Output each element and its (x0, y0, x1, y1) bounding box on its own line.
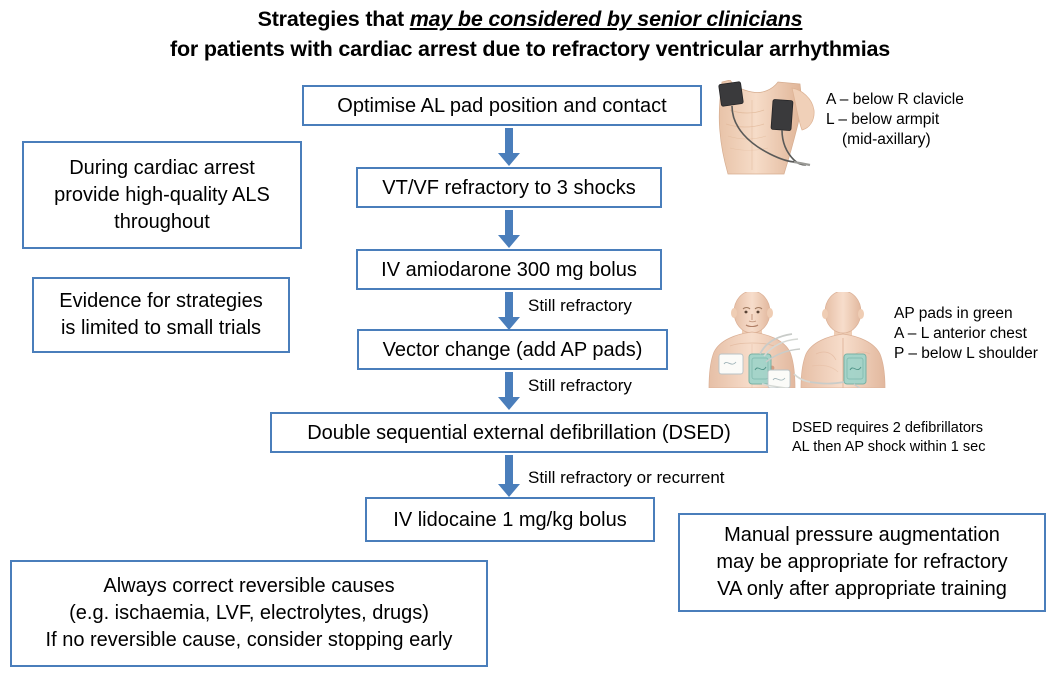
al-pad-torso-svg (706, 80, 816, 175)
note-line: If no reversible cause, consider stoppin… (46, 627, 453, 654)
note-box-reversible-causes: Always correct reversible causes (e.g. i… (10, 560, 488, 667)
flow-step-label: Double sequential external defibrillatio… (307, 420, 731, 446)
note-line: (e.g. ischaemia, LVF, electrolytes, drug… (69, 600, 429, 627)
side-note-line: AL then AP shock within 1 sec (792, 438, 985, 457)
flow-step-label: Optimise AL pad position and contact (337, 93, 666, 119)
side-note-line: (mid-axillary) (826, 130, 964, 150)
ap-back-figure (794, 292, 885, 388)
flow-step-vector-change[interactable]: Vector change (add AP pads) (357, 329, 668, 370)
side-note-line: L – below armpit (826, 110, 964, 130)
note-box-evidence-limited: Evidence for strategies is limited to sm… (32, 277, 290, 353)
illustration-al-pad-torso (706, 80, 816, 175)
side-note-ap-pad-placement: AP pads in green A – L anterior chest P … (894, 304, 1038, 364)
flowchart-canvas: Strategies that may be considered by sen… (0, 0, 1060, 683)
flow-step-label: Vector change (add AP pads) (383, 337, 643, 363)
note-line: Always correct reversible causes (103, 573, 394, 600)
ap-front-figure (709, 292, 800, 388)
arrow-label-still-refractory-2: Still refractory (528, 376, 632, 396)
flow-step-label: VT/VF refractory to 3 shocks (382, 175, 635, 201)
side-note-line: A – below R clavicle (826, 90, 964, 110)
side-note-line: P – below L shoulder (894, 344, 1038, 364)
page-title-line-1-prefix: Strategies that (258, 7, 410, 31)
page-title: Strategies that may be considered by sen… (0, 4, 1060, 64)
illustration-ap-pad-figures (700, 292, 890, 388)
flow-arrow-3 (498, 292, 520, 330)
flow-step-label: IV lidocaine 1 mg/kg bolus (393, 507, 626, 533)
side-note-dsed-requirements: DSED requires 2 defibrillators AL then A… (792, 419, 985, 457)
note-line: provide high-quality ALS (54, 182, 270, 209)
side-note-line: DSED requires 2 defibrillators (792, 419, 985, 438)
page-title-line-2: for patients with cardiac arrest due to … (0, 34, 1060, 64)
note-box-manual-pressure-augmentation: Manual pressure augmentation may be appr… (678, 513, 1046, 612)
note-line: may be appropriate for refractory (716, 549, 1007, 576)
note-line: Manual pressure augmentation (724, 522, 1000, 549)
flow-arrow-4 (498, 372, 520, 410)
page-title-line-1-emphasis: may be considered by senior clinicians (410, 7, 803, 31)
flow-step-iv-amiodarone[interactable]: IV amiodarone 300 mg bolus (356, 249, 662, 290)
note-line: VA only after appropriate training (717, 576, 1007, 603)
flow-step-vtvf-refractory[interactable]: VT/VF refractory to 3 shocks (356, 167, 662, 208)
arrow-label-still-refractory-1: Still refractory (528, 296, 632, 316)
flow-step-optimise-al-pads[interactable]: Optimise AL pad position and contact (302, 85, 702, 126)
flow-arrow-1 (498, 128, 520, 166)
flow-arrow-5 (498, 455, 520, 497)
page-title-line-1: Strategies that may be considered by sen… (0, 4, 1060, 34)
note-line: throughout (114, 209, 210, 236)
side-note-line: A – L anterior chest (894, 324, 1038, 344)
flow-step-iv-lidocaine[interactable]: IV lidocaine 1 mg/kg bolus (365, 497, 655, 542)
note-box-during-cardiac-arrest: During cardiac arrest provide high-quali… (22, 141, 302, 249)
ap-pad-figures-svg (700, 292, 890, 388)
note-line: During cardiac arrest (69, 155, 255, 182)
arrow-label-still-refractory-or-recurrent: Still refractory or recurrent (528, 468, 725, 488)
flow-arrow-2 (498, 210, 520, 248)
flow-step-dsed[interactable]: Double sequential external defibrillatio… (270, 412, 768, 453)
side-note-al-pad-placement: A – below R clavicle L – below armpit (m… (826, 90, 964, 150)
note-line: is limited to small trials (61, 315, 261, 342)
side-note-line: AP pads in green (894, 304, 1038, 324)
flow-step-label: IV amiodarone 300 mg bolus (381, 257, 637, 283)
note-line: Evidence for strategies (59, 288, 262, 315)
